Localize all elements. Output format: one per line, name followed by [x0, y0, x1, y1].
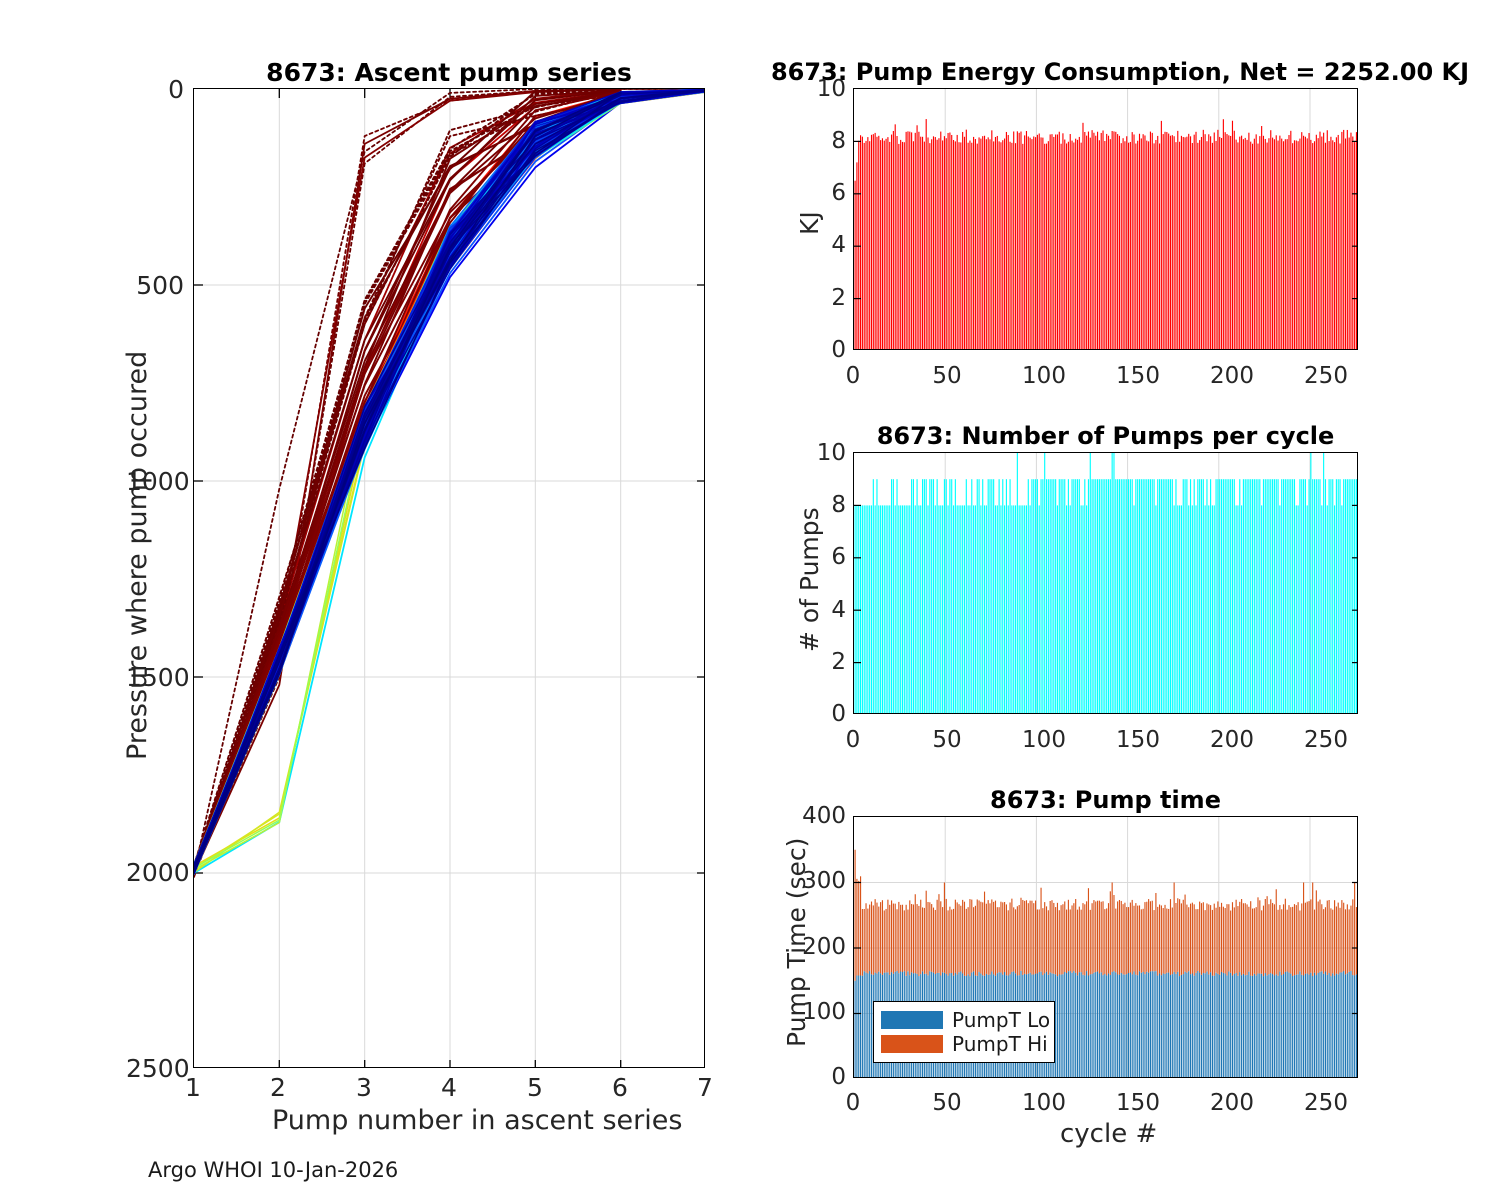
pumptime-xaxis-label: cycle # [1060, 1119, 1157, 1149]
ascent-ytick-500: 500 [126, 271, 184, 300]
numpumps-xtick-0: 0 [833, 727, 873, 753]
energy-panel-title: 8673: Pump Energy Consumption, Net = 225… [740, 58, 1500, 86]
ascent-xtick-5: 5 [515, 1073, 555, 1102]
pumptime-yaxis-label: Pump Time (sec) [782, 838, 811, 1047]
legend-label-pumpt-lo: PumpT Lo [952, 1010, 1050, 1030]
energy-xtick-200: 200 [1204, 363, 1260, 389]
energy-axes[interactable] [853, 88, 1358, 350]
numpumps-xtick-100: 100 [1016, 727, 1072, 753]
numpumps-xtick-50: 50 [922, 727, 972, 753]
energy-yaxis-label: KJ [795, 211, 824, 235]
pumptime-xtick-50: 50 [922, 1090, 972, 1116]
energy-plot-svg [854, 89, 1358, 350]
energy-ytick-10: 10 [800, 76, 846, 102]
pumptime-ytick-0: 0 [786, 1064, 846, 1090]
legend-swatch-pumpt-hi [881, 1035, 943, 1053]
ascent-xtick-4: 4 [429, 1073, 469, 1102]
numpumps-xtick-200: 200 [1204, 727, 1260, 753]
energy-ytick-6: 6 [800, 180, 846, 206]
numpumps-ytick-2: 2 [800, 649, 846, 675]
numpumps-bars [855, 453, 1357, 714]
energy-xtick-250: 250 [1298, 363, 1354, 389]
figure-footer: Argo WHOI 10-Jan-2026 [148, 1158, 398, 1182]
numpumps-yaxis-label: # of Pumps [795, 507, 824, 652]
energy-xtick-100: 100 [1016, 363, 1072, 389]
energy-xtick-0: 0 [833, 363, 873, 389]
ascent-ytick-0: 0 [126, 75, 184, 104]
ascent-xtick-1: 1 [173, 1073, 213, 1102]
energy-ytick-4: 4 [800, 232, 846, 258]
numpumps-gridlines [945, 453, 1310, 714]
numpumps-panel-title: 8673: Number of Pumps per cycle [853, 422, 1358, 450]
pumptime-ytick-400: 400 [786, 803, 846, 829]
legend-label-pumpt-hi: PumpT Hi [952, 1034, 1048, 1054]
energy-xtick-150: 150 [1110, 363, 1166, 389]
ascent-xtick-3: 3 [344, 1073, 384, 1102]
numpumps-ytick-0: 0 [800, 701, 846, 727]
pumptime-xtick-200: 200 [1204, 1090, 1260, 1116]
ascent-yaxis-label: Pressure where pump occured [122, 351, 153, 760]
legend-swatch-pumpt-lo [881, 1011, 943, 1029]
legend-row-pumpt-lo: PumpT Lo [881, 1008, 1045, 1032]
legend-row-pumpt-hi: PumpT Hi [881, 1032, 1045, 1056]
ascent-plot-svg [194, 89, 705, 1068]
pumptime-xtick-150: 150 [1110, 1090, 1166, 1116]
ascent-xtick-6: 6 [600, 1073, 640, 1102]
energy-ytick-8: 8 [800, 128, 846, 154]
pumptime-panel-title: 8673: Pump time [853, 786, 1358, 814]
pumptime-xtick-0: 0 [833, 1090, 873, 1116]
energy-ytick-0: 0 [800, 337, 846, 363]
ascent-xaxis-label: Pump number in ascent series [272, 1105, 682, 1136]
numpumps-axes[interactable] [853, 452, 1358, 714]
energy-xtick-50: 50 [922, 363, 972, 389]
ascent-ytick-2000: 2000 [126, 858, 184, 887]
ascent-axes[interactable] [193, 88, 705, 1068]
ascent-xtick-2: 2 [258, 1073, 298, 1102]
pumptime-legend[interactable]: PumpT Lo PumpT Hi [873, 1001, 1055, 1063]
pumptime-xtick-100: 100 [1016, 1090, 1072, 1116]
energy-ytick-2: 2 [800, 285, 846, 311]
figure-canvas: 8673: Ascent pump series 0 500 1000 1500… [0, 0, 1500, 1200]
numpumps-plot-svg [854, 453, 1358, 714]
energy-bars [855, 119, 1357, 350]
ascent-panel-title: 8673: Ascent pump series [193, 58, 705, 87]
numpumps-xtick-150: 150 [1110, 727, 1166, 753]
numpumps-ytick-10: 10 [800, 440, 846, 466]
energy-gridlines [945, 89, 1310, 350]
pumptime-xtick-250: 250 [1298, 1090, 1354, 1116]
numpumps-xtick-250: 250 [1298, 727, 1354, 753]
ascent-xtick-7: 7 [685, 1073, 725, 1102]
